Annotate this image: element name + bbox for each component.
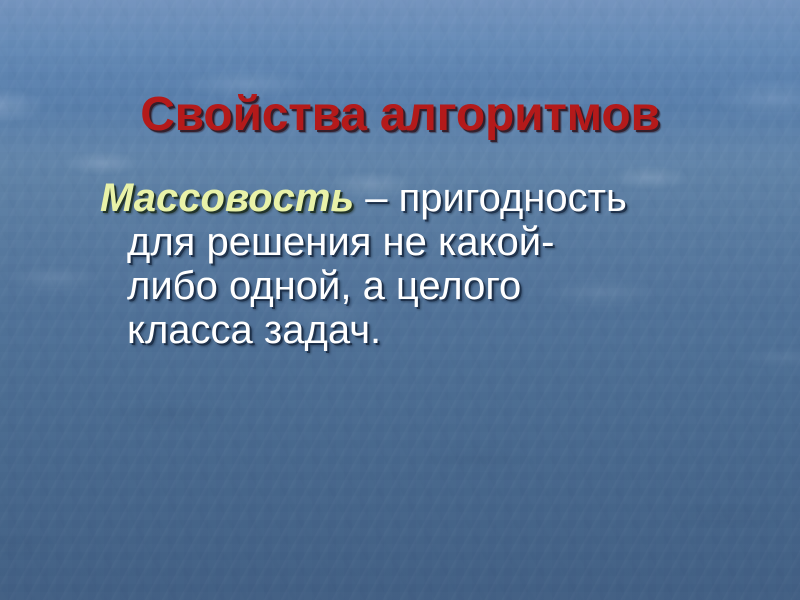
presentation-slide: Свойства алгоритмов Массовость – пригодн…	[0, 0, 800, 600]
body-line-1: Массовость – пригодность	[100, 176, 720, 220]
slide-body: Массовость – пригодность для решения не …	[100, 176, 720, 352]
body-line-3: либо одной, а целого	[100, 264, 720, 308]
slide-content: Свойства алгоритмов Массовость – пригодн…	[0, 0, 800, 600]
body-line-2: для решения не какой-	[100, 220, 720, 264]
slide-title: Свойства алгоритмов	[0, 90, 800, 140]
em-dash-separator: –	[365, 176, 387, 220]
term-massovost: Массовость	[100, 176, 354, 220]
body-line-4: класса задач.	[100, 308, 720, 352]
body-line-1-rest: пригодность	[399, 176, 627, 220]
